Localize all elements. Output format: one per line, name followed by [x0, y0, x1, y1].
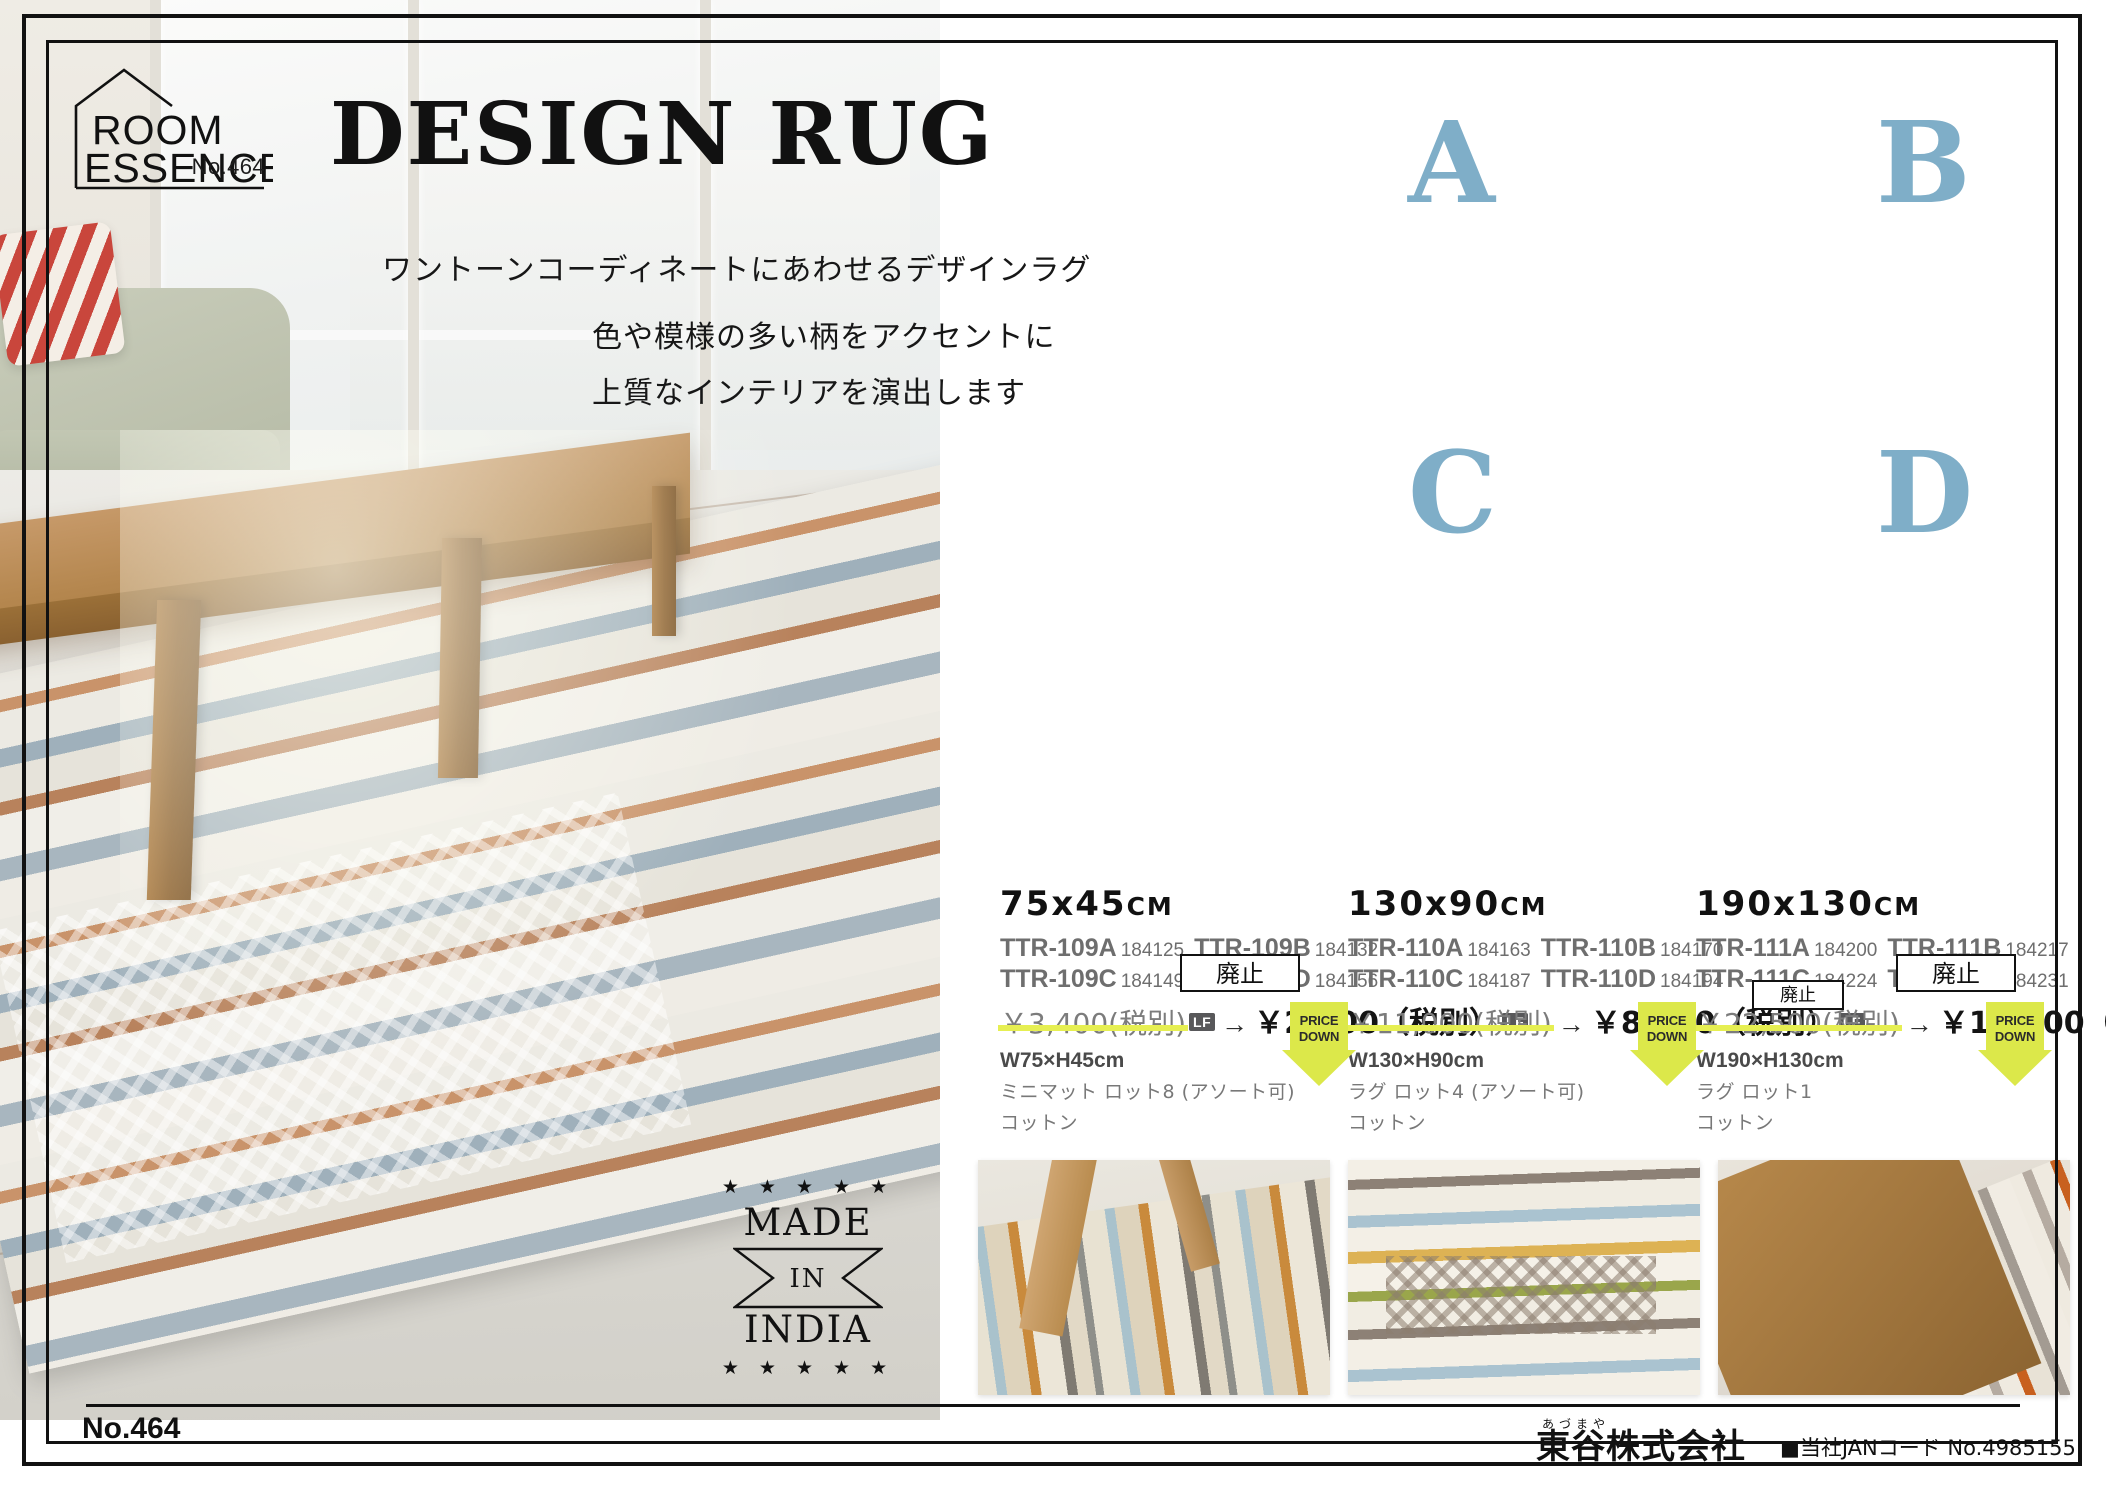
price-down-badge: PRICE DOWN [1282, 1000, 1356, 1086]
new-price-tax: （税別） [2085, 1006, 2106, 1041]
price-down-line2: DOWN [1282, 1029, 1356, 1045]
discontinued-stamp: 廃止 [1896, 954, 2016, 992]
stars-top: ★ ★ ★ ★ ★ [718, 1178, 898, 1197]
code-row: TTR-110C184187TTR-110D184194 [1348, 965, 1710, 995]
tagline-line-2: 色や模様の多い柄をアクセントに [592, 312, 1056, 356]
price-down-badge: PRICE DOWN [1630, 1000, 1704, 1086]
old-price: ￥22,500(税別) [1696, 1007, 1900, 1040]
price-down-badge: PRICE DOWN [1978, 1000, 2052, 1086]
table-leg [652, 486, 676, 636]
country-text: INDIA [718, 1308, 898, 1351]
price-down-line1: PRICE [1978, 1013, 2052, 1029]
company-name: 東谷株式会社 [1536, 1430, 1746, 1466]
discontinued-stamp: 廃止 [1180, 954, 1300, 992]
material: コットン [1348, 1108, 1710, 1135]
in-text: IN [733, 1264, 883, 1294]
company-block: あづまや 東谷株式会社 [1536, 1418, 1746, 1466]
size-value: 130x90 [1348, 884, 1500, 924]
tagline-line-3: 上質なインテリアを演出します [592, 368, 1026, 412]
page-number: No.464 [82, 1412, 180, 1446]
product-code-list: TTR-110A184163TTR-110B184170 TTR-110C184… [1348, 934, 1710, 994]
product-jan: 184149 [1121, 971, 1184, 992]
product-jan: 184187 [1467, 971, 1530, 992]
price-down-line2: DOWN [1630, 1029, 1704, 1045]
ribbon-shape: IN [733, 1247, 883, 1309]
product-code: TTR-111A [1696, 934, 1810, 962]
price-arrow: → [1558, 1009, 1585, 1039]
swatch-label-b: B [1876, 108, 1971, 220]
price-down-line2: DOWN [1978, 1029, 2052, 1045]
price-arrow: → [1221, 1009, 1248, 1039]
page-title: DESIGN RUG [330, 84, 994, 185]
size-unit: CM [1500, 892, 1547, 921]
product-code: TTR-110A [1348, 934, 1463, 962]
lf-badge-old: LF [1189, 1013, 1215, 1031]
price-down-line1: PRICE [1630, 1013, 1704, 1029]
discontinued-stamp: 廃止 [1752, 980, 1844, 1010]
swatch-label-c: C [1408, 438, 1497, 550]
spec-size-heading: 75x45CM [1000, 884, 1362, 924]
product-jan: 184163 [1467, 940, 1530, 961]
catalog-page: ROOM ESSENCE No.464 DESIGN RUG ワントーンコーディ… [0, 0, 2106, 1488]
lifestyle-photo-1 [978, 1160, 1330, 1395]
size-value: 75x45 [1000, 884, 1127, 924]
size-unit: CM [1874, 892, 1921, 921]
spec-size-heading: 190x130CM [1696, 884, 2058, 924]
product-jan: 184200 [1814, 940, 1877, 961]
company-jan-code: ■当社JANコード No.4985155 [1780, 1432, 2076, 1462]
size-value: 190x130 [1696, 884, 1874, 924]
spec-size-heading: 130x90CM [1348, 884, 1710, 924]
product-code: TTR-110B [1541, 934, 1656, 962]
striped-cushion [0, 221, 126, 366]
swatch-label-a: A [1408, 108, 1495, 220]
price-down-text: PRICE DOWN [1978, 1013, 2052, 1046]
lifestyle-photo-3 [1718, 1160, 2070, 1395]
price-down-text: PRICE DOWN [1282, 1013, 1356, 1046]
swatch-label-d: D [1876, 438, 1973, 550]
code-row: TTR-110A184163TTR-110B184170 [1348, 934, 1710, 964]
product-code: TTR-110D [1541, 965, 1656, 993]
made-text: MADE [718, 1201, 898, 1244]
made-in-india-badge: ★ ★ ★ ★ ★ MADE IN INDIA ★ ★ ★ ★ ★ [718, 1178, 898, 1378]
lifestyle-photo-2 [1348, 1160, 1700, 1395]
product-code: TTR-110C [1348, 965, 1463, 993]
size-unit: CM [1127, 892, 1174, 921]
table-leg [438, 538, 482, 778]
brand-logo: ROOM ESSENCE No.464 [58, 62, 273, 190]
logo-catalog-number: No.464 [192, 154, 265, 180]
rug-diamond-motif [1386, 1256, 1656, 1334]
product-jan: 184125 [1121, 940, 1184, 961]
material: コットン [1000, 1108, 1362, 1135]
stars-bottom: ★ ★ ★ ★ ★ [718, 1359, 898, 1378]
price-arrow: → [1906, 1009, 1933, 1039]
tagline-line-1: ワントーンコーディネートにあわせるデザインラグ [382, 245, 1091, 289]
price-down-text: PRICE DOWN [1630, 1013, 1704, 1046]
product-code: TTR-109C [1000, 965, 1117, 993]
old-price: ￥3,400(税別) [1000, 1007, 1186, 1040]
product-code: TTR-109A [1000, 934, 1117, 962]
old-price: ￥11,000(税別) [1348, 1007, 1552, 1040]
footer-divider [86, 1404, 2020, 1407]
price-down-line1: PRICE [1282, 1013, 1356, 1029]
material: コットン [1696, 1108, 2058, 1135]
